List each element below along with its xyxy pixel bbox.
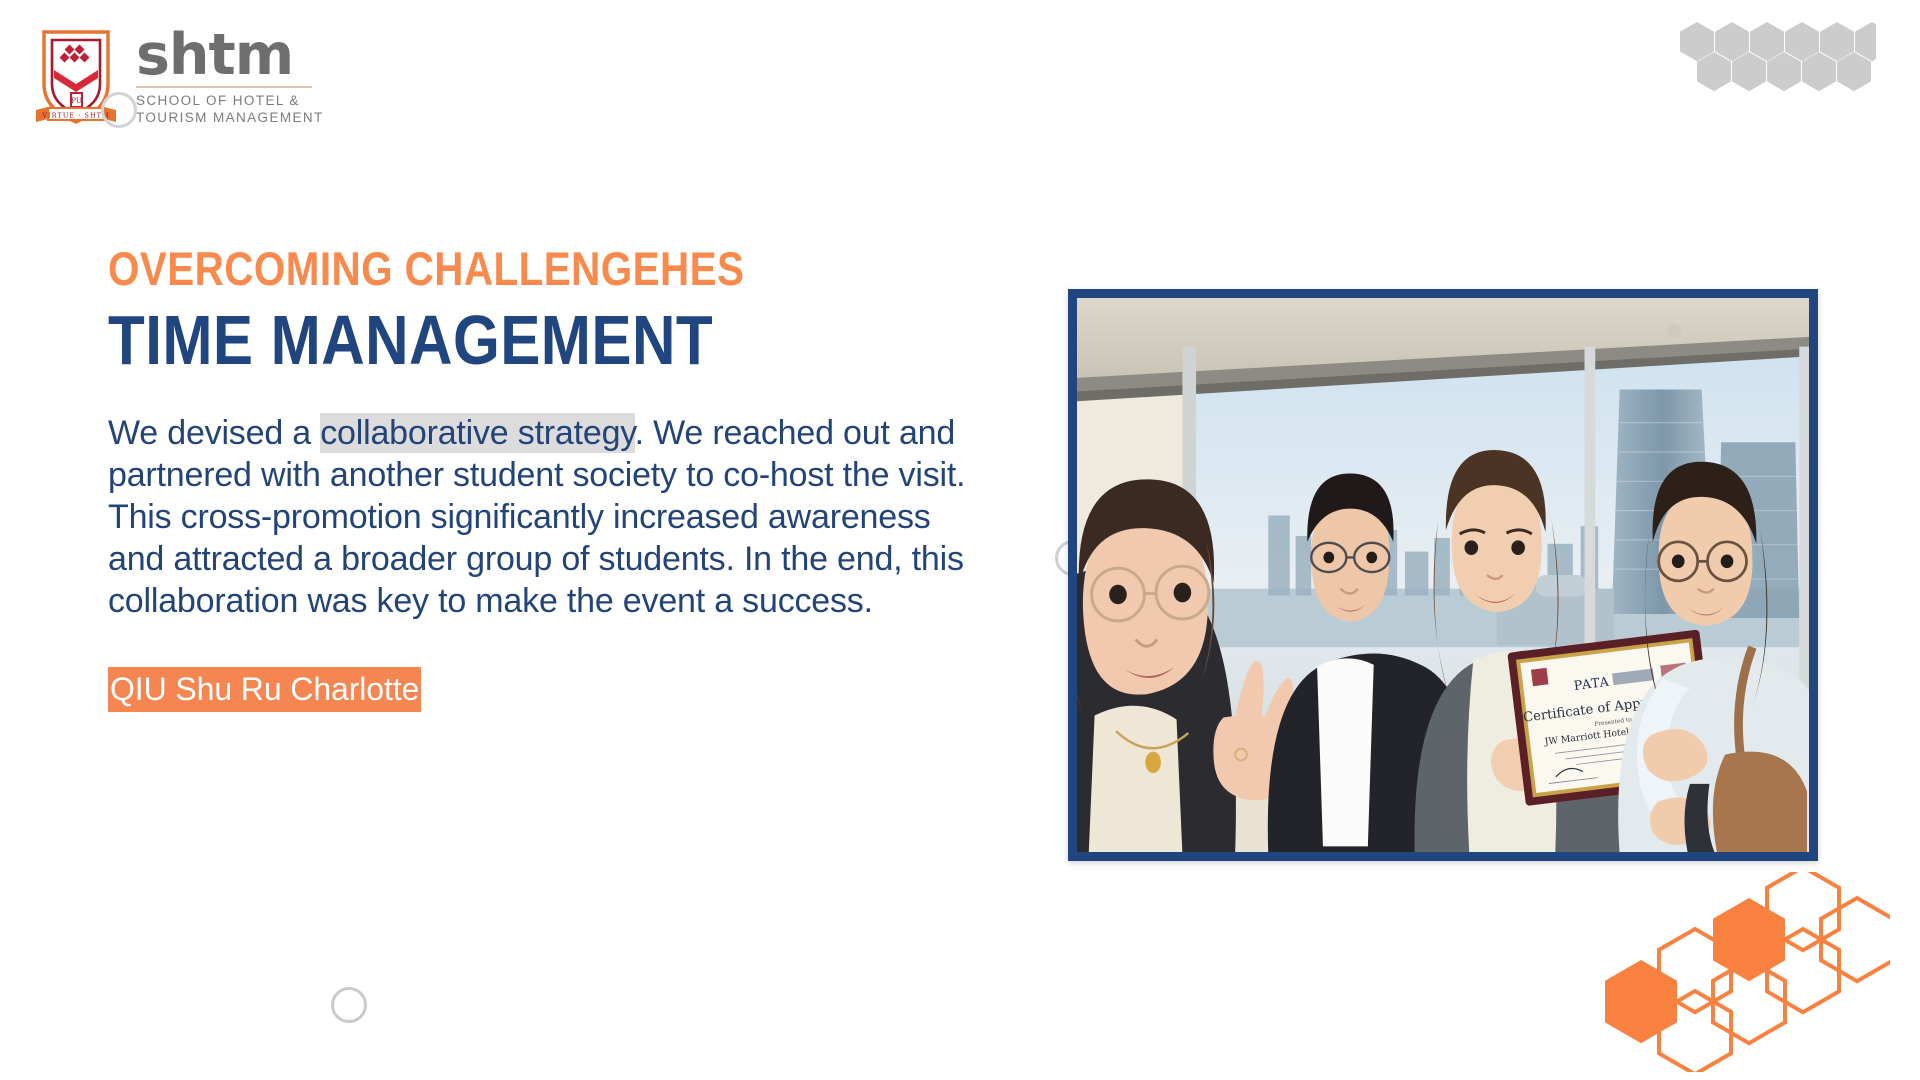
logo-wordmark: shtm [136,28,324,82]
slide-content: OVERCOMING CHALLENGEHES TIME MANAGEMENT … [108,244,1008,708]
decorative-circle-lower [331,987,367,1023]
shtm-logo: PU VIRTUE · SHTM shtm SCHOOL OF HOTEL & … [30,22,324,130]
logo-subtitle: SCHOOL OF HOTEL & TOURISM MANAGEMENT [136,93,324,127]
body-text-part-1: We devised a [108,414,320,452]
logo-subtitle-line-1: SCHOOL OF HOTEL & [136,93,324,110]
group-photo: PATA Certificate of Appreciation Present… [1068,289,1818,861]
slide-headline: TIME MANAGEMENT [108,303,882,379]
author-byline: QIU Shu Ru Charlotte [108,667,421,712]
decorative-circle-logo [101,92,137,128]
body-text-highlight: collaborative strategy [320,413,634,453]
svg-text:PU: PU [71,97,82,105]
byline-container: QIU Shu Ru Charlotte [108,671,1008,708]
group-photo-illustration: PATA Certificate of Appreciation Present… [1077,298,1809,852]
logo-subtitle-line-2: TOURISM MANAGEMENT [136,110,324,127]
crest-motto-text: VIRTUE · SHTM [41,112,109,120]
slide-body-text: We devised a collaborative strategy. We … [108,413,988,623]
slide-kicker: OVERCOMING CHALLENGEHES [108,244,882,293]
orange-hexagon-decoration [1605,872,1890,1072]
grey-hexagon-decoration [1676,20,1876,120]
